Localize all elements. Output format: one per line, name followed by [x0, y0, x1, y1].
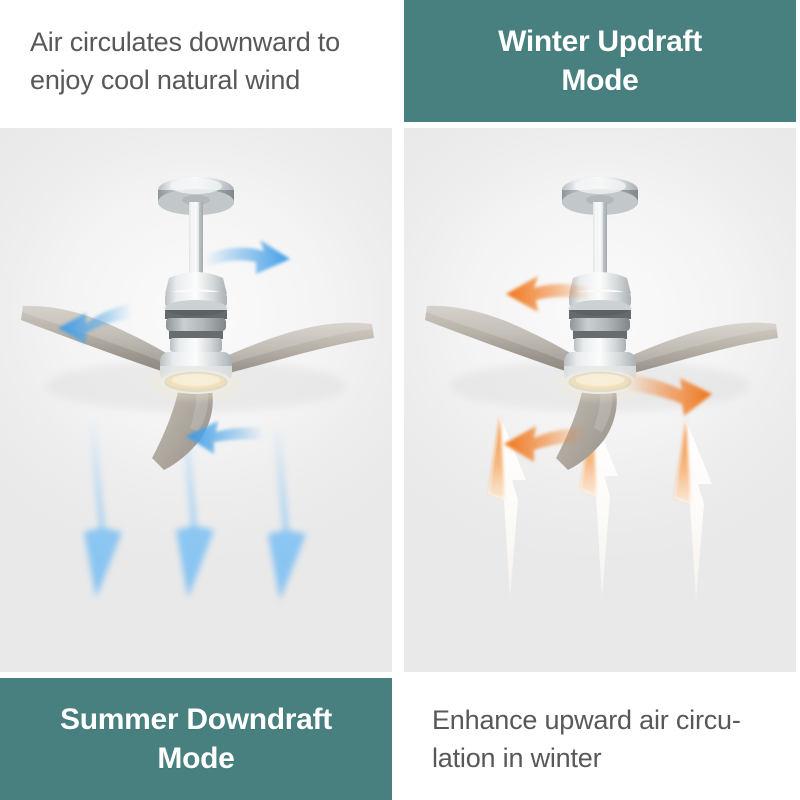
- summer-downdraft-illustration: [0, 128, 392, 672]
- updraft-spike-3: [674, 420, 712, 600]
- fan-downrod: [593, 202, 607, 274]
- ceiling-fan-summer-svg: [0, 128, 392, 672]
- summer-downdraft-mode-label: Summer Downdraft Mode: [0, 678, 392, 800]
- top-left-caption: Air circulates downward to enjoy cool na…: [0, 0, 392, 122]
- winter-updraft-illustration: [404, 128, 796, 672]
- light-glow: [150, 368, 242, 400]
- ceiling-fan-winter-svg: [404, 128, 796, 672]
- winter-updraft-mode-label-text: Winter Updraft Mode: [498, 22, 702, 100]
- fan-downrod: [189, 202, 203, 274]
- comparison-infographic: Air circulates downward to enjoy cool na…: [0, 0, 800, 800]
- bottom-right-caption-text: Enhance upward air circu- lation in wint…: [432, 701, 741, 778]
- top-left-caption-text: Air circulates downward to enjoy cool na…: [30, 23, 340, 100]
- fan-motor-housing: [165, 272, 227, 352]
- bottom-right-caption: Enhance upward air circu- lation in wint…: [404, 678, 796, 800]
- winter-updraft-mode-label: Winter Updraft Mode: [404, 0, 796, 122]
- arrow-upper-right: [204, 240, 290, 274]
- fan-motor-housing: [569, 272, 631, 352]
- summer-downdraft-mode-label-text: Summer Downdraft Mode: [60, 700, 332, 778]
